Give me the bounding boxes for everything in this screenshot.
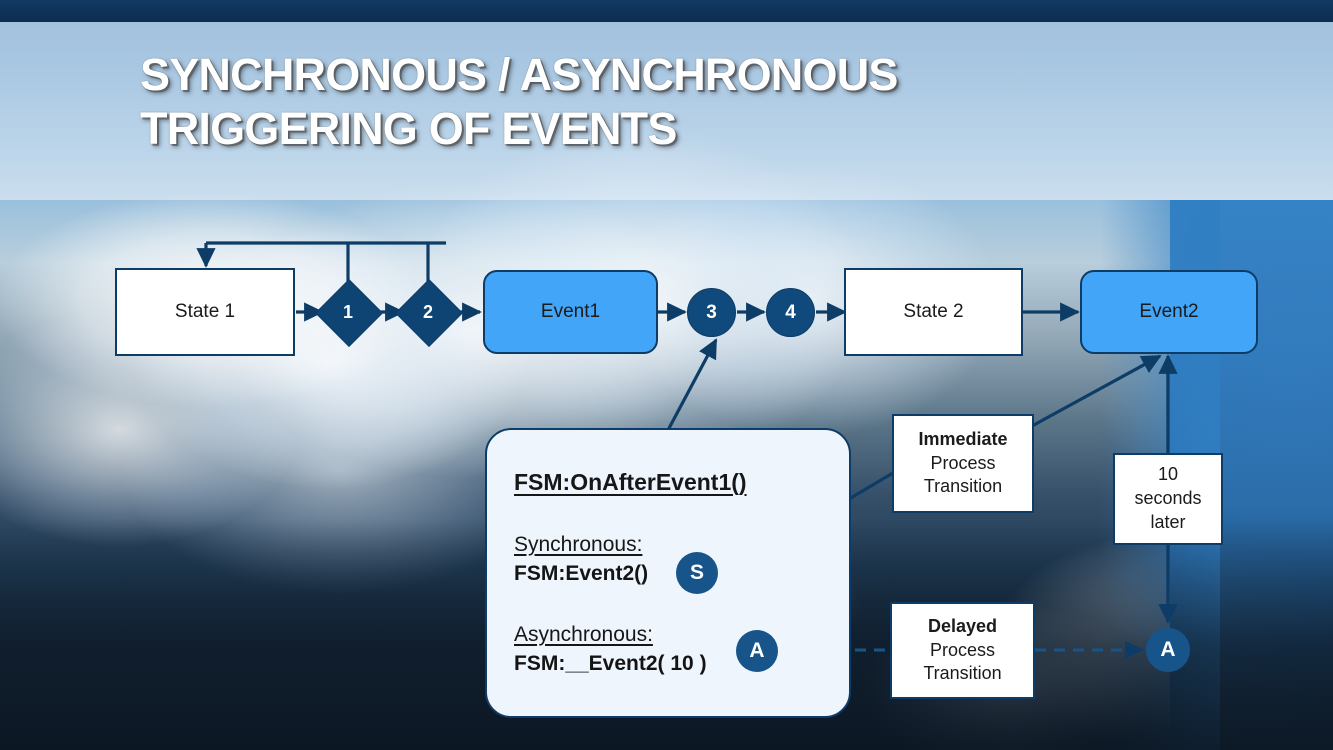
circle-3-label: 3 <box>706 302 717 324</box>
node-state-2-label: State 2 <box>903 301 963 323</box>
note-immediate-line3: Transition <box>924 475 1002 499</box>
node-state-2[interactable]: State 2 <box>844 268 1023 356</box>
note-delayed-line1: Delayed <box>928 615 997 639</box>
note-delayed-line3: Transition <box>923 662 1001 686</box>
note-timer-line1: 10 <box>1158 463 1178 487</box>
immediate-to-event2-arrow <box>1032 356 1160 426</box>
note-timer[interactable]: 10 seconds later <box>1113 453 1223 545</box>
sync-label: Synchronous: <box>514 533 642 557</box>
circle-3[interactable]: 3 <box>687 288 736 337</box>
diamond-2-label: 2 <box>423 302 433 323</box>
sync-tag-label: S <box>690 561 704 585</box>
note-immediate[interactable]: Immediate Process Transition <box>892 414 1034 513</box>
async-code: FSM:__Event2( 10 ) <box>514 652 707 676</box>
delayed-tag-label: A <box>1160 638 1175 662</box>
async-tag-label: A <box>749 639 764 663</box>
delayed-tag-circle[interactable]: A <box>1146 628 1190 672</box>
circle-4[interactable]: 4 <box>766 288 815 337</box>
node-event-1[interactable]: Event1 <box>483 270 658 354</box>
node-state-1-label: State 1 <box>175 301 235 323</box>
async-label: Asynchronous: <box>514 623 653 647</box>
note-delayed[interactable]: Delayed Process Transition <box>890 602 1035 699</box>
callout-to-circle3-arrow <box>667 340 716 432</box>
diamond-1-label: 1 <box>343 302 353 323</box>
node-event-2-label: Event2 <box>1139 301 1198 323</box>
note-delayed-line2: Process <box>930 639 995 663</box>
node-state-1[interactable]: State 1 <box>115 268 295 356</box>
diamond-2-label-wrap: 2 <box>405 289 451 335</box>
node-event-1-label: Event1 <box>541 301 600 323</box>
circle-4-label: 4 <box>785 302 796 324</box>
slide-canvas: SYNCHRONOUS / ASYNCHRONOUS TRIGGERING OF… <box>0 0 1333 750</box>
note-timer-line2: seconds <box>1134 487 1201 511</box>
sync-tag-circle[interactable]: S <box>676 552 718 594</box>
note-timer-line3: later <box>1150 511 1185 535</box>
async-tag-circle[interactable]: A <box>736 630 778 672</box>
note-immediate-line2: Process <box>930 452 995 476</box>
diamond-1-label-wrap: 1 <box>325 289 371 335</box>
sync-code: FSM:Event2() <box>514 562 648 586</box>
fsm-callout-title: FSM:OnAfterEvent1() <box>514 469 747 496</box>
node-event-2[interactable]: Event2 <box>1080 270 1258 354</box>
note-immediate-line1: Immediate <box>918 428 1007 452</box>
